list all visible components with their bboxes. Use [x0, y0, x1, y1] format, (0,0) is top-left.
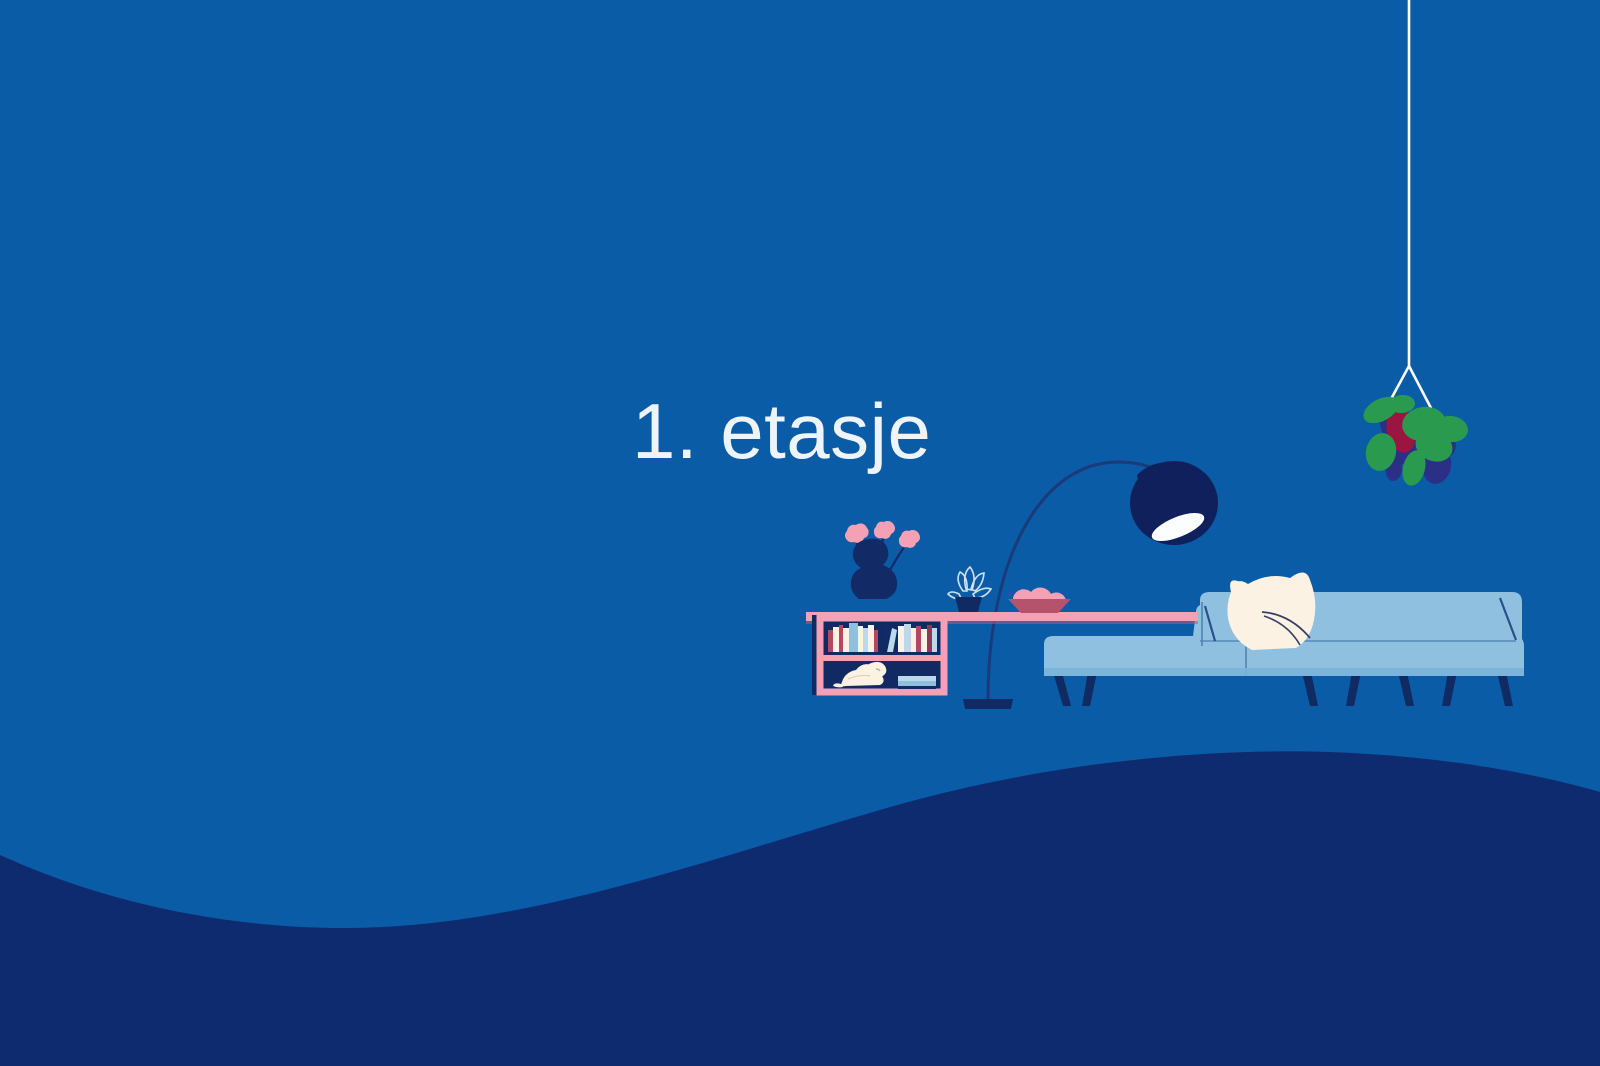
bookshelf	[812, 615, 944, 695]
book	[916, 626, 921, 652]
book	[932, 628, 937, 652]
illustration-canvas: 1. etasje	[0, 0, 1600, 1066]
book	[843, 628, 849, 652]
book	[904, 624, 911, 652]
plant-pot-small	[955, 597, 982, 612]
book	[858, 626, 863, 652]
lamp-base	[963, 699, 1013, 709]
sofa-bottom-shadow	[1044, 668, 1524, 676]
stacked-book-2	[898, 681, 936, 686]
book	[921, 629, 927, 652]
book	[828, 630, 833, 652]
book	[863, 628, 868, 652]
page-title: 1. etasje	[632, 392, 931, 470]
bookshelf-middle-shelf	[820, 655, 944, 661]
book	[911, 628, 916, 652]
stacked-book-3	[898, 686, 936, 689]
vase-neck	[858, 568, 886, 599]
book	[833, 627, 839, 652]
cushion	[1228, 572, 1316, 650]
book	[868, 625, 874, 652]
book	[839, 625, 843, 652]
book	[874, 630, 878, 652]
living-room-scene	[0, 0, 1600, 1066]
book	[849, 623, 858, 652]
stacked-book-1	[898, 676, 936, 681]
book	[927, 625, 932, 652]
book	[898, 626, 904, 652]
